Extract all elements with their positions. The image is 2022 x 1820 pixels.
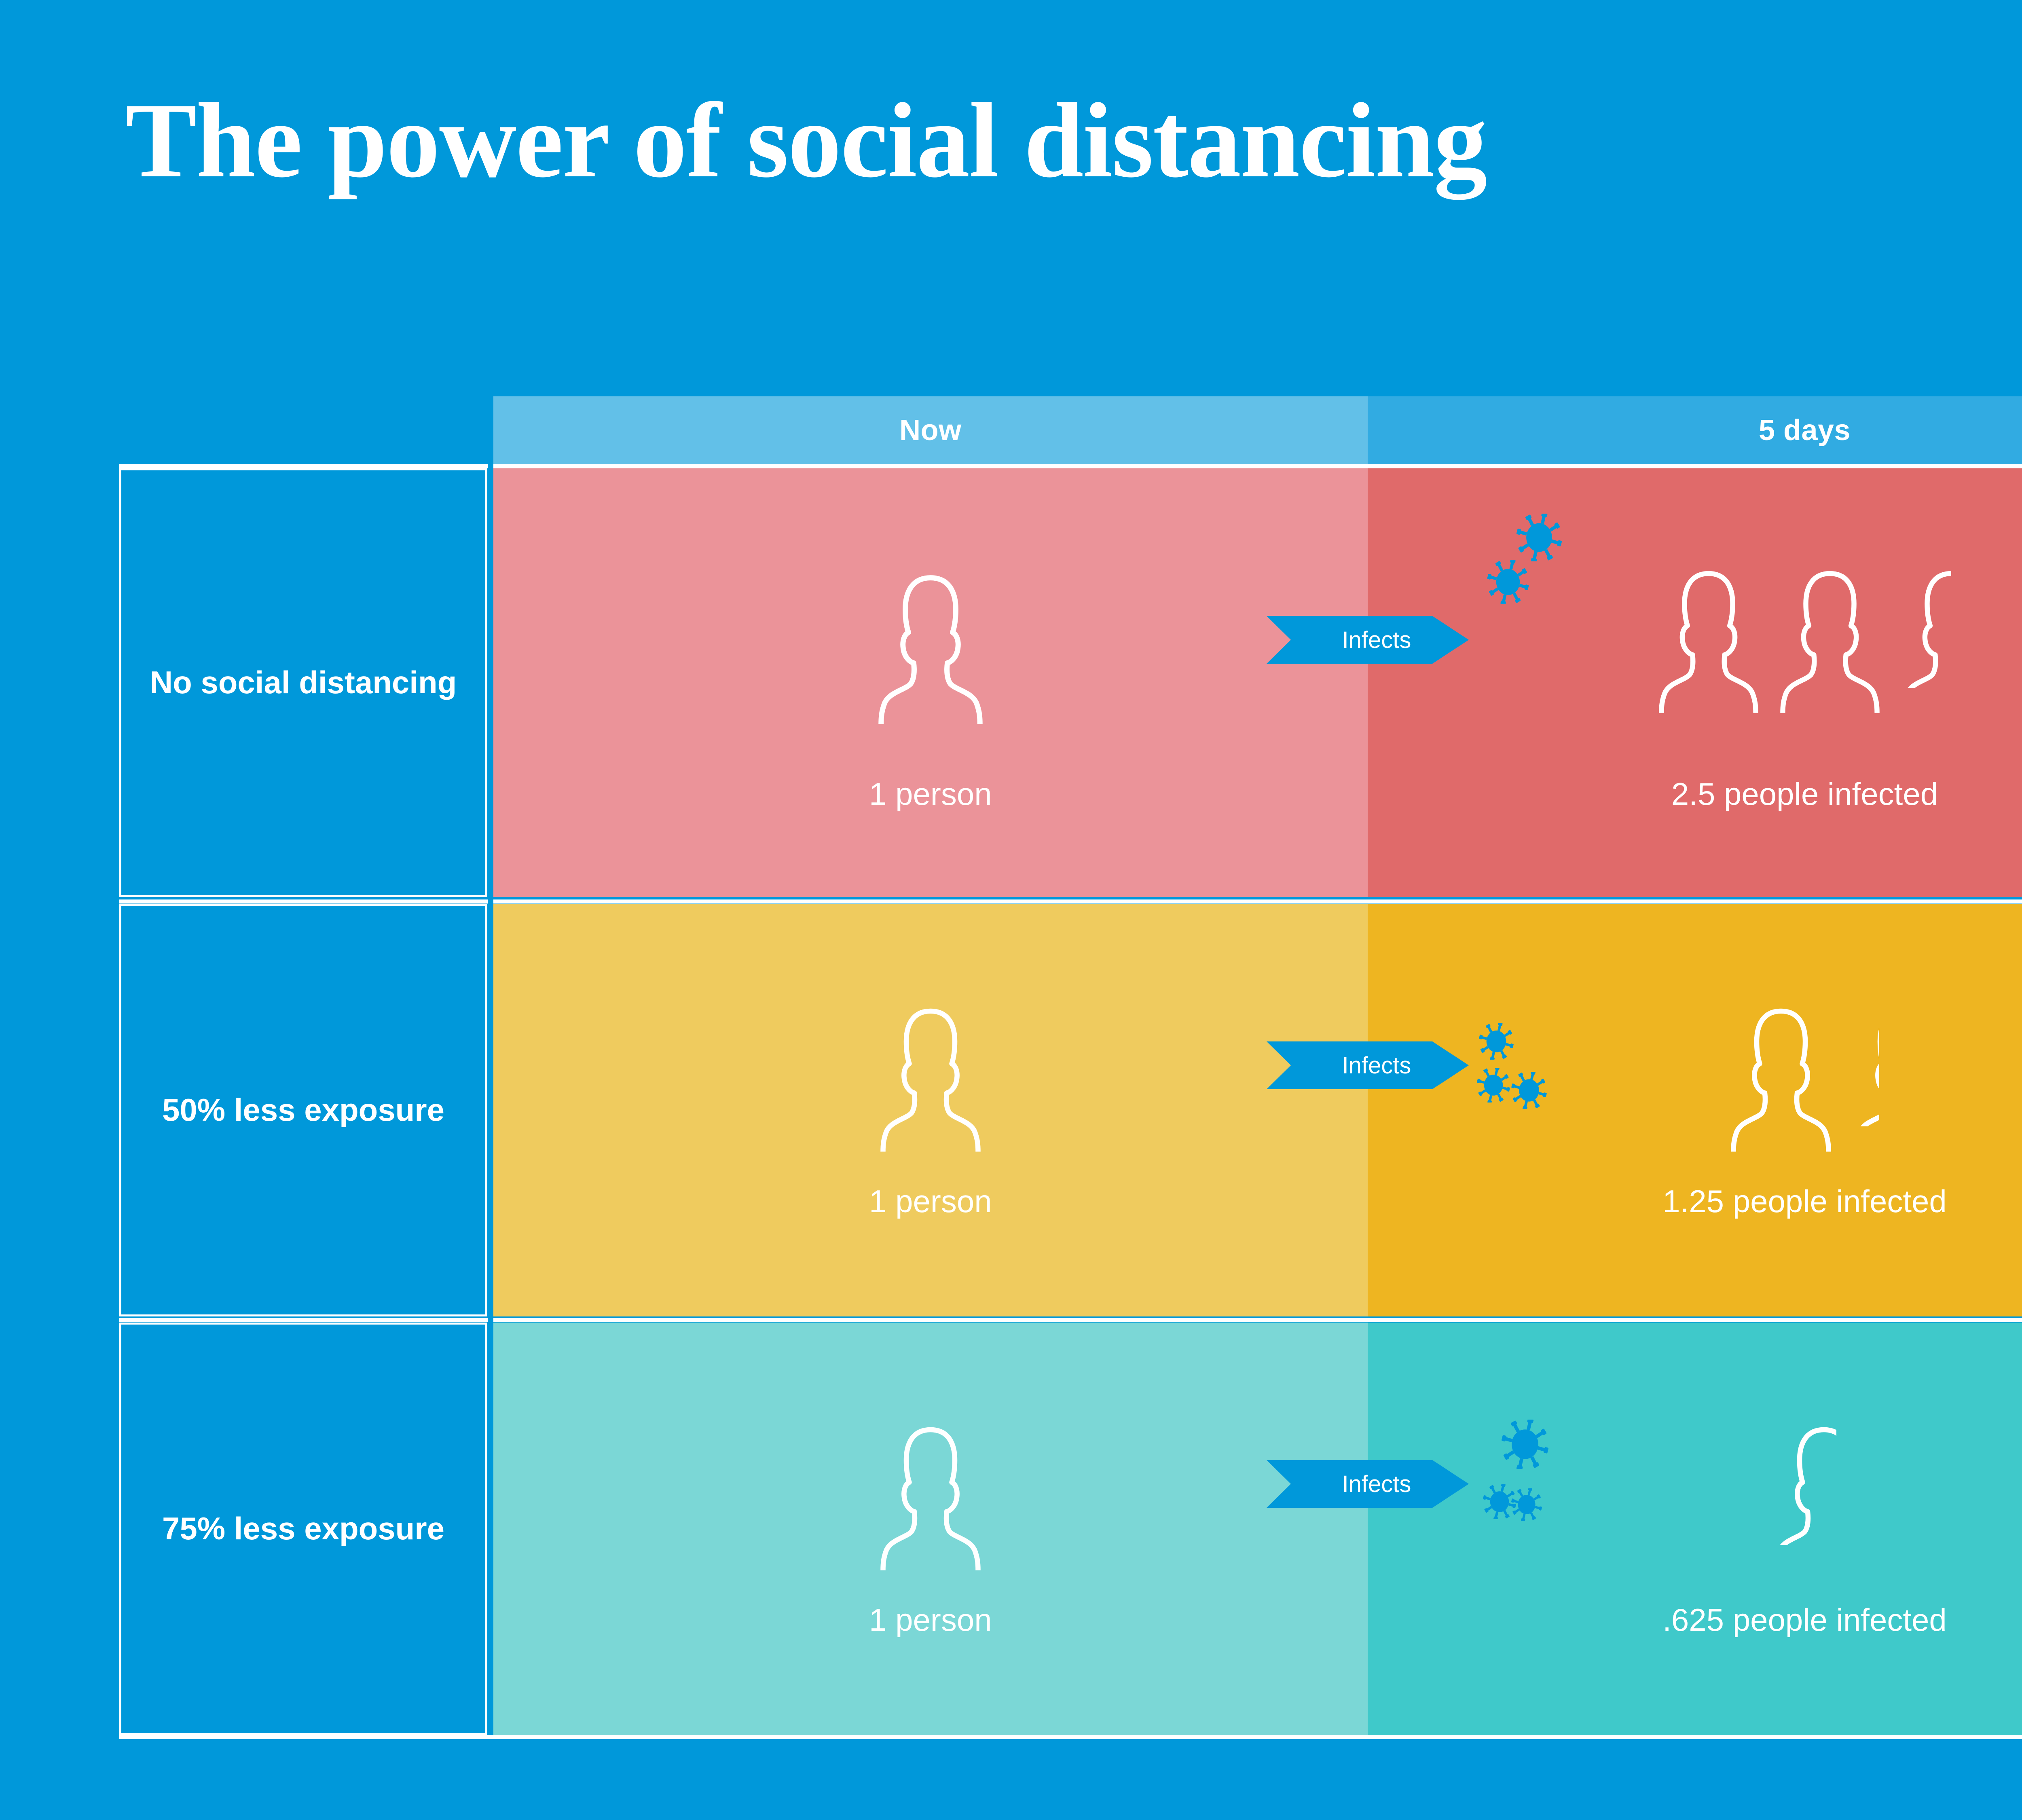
person-bust-icon bbox=[1730, 1005, 1832, 1126]
cell-caption: 2.5 people infected bbox=[1368, 776, 2022, 813]
infects-arrow-row0-col1: Infects bbox=[1267, 616, 1469, 664]
row-label-no-social-distancing: No social distancing bbox=[119, 468, 487, 897]
page-title: The power of social distancing bbox=[125, 87, 1487, 194]
person-bust-icon bbox=[1658, 567, 1759, 688]
row-label-75-less-exposure: 75% less exposure bbox=[119, 1323, 487, 1735]
column-header-5days: 5 days bbox=[1368, 396, 2022, 464]
social-distancing-table: Now 5 days 30 days No social distancing … bbox=[119, 396, 2022, 1711]
virus-icon bbox=[1476, 1068, 1511, 1103]
people-group bbox=[493, 1005, 1368, 1134]
person-bust-icon bbox=[880, 1005, 981, 1126]
row-label-text: 50% less exposure bbox=[162, 1091, 444, 1129]
person-bust-icon bbox=[1780, 567, 1880, 688]
cell-caption: .625 people infected bbox=[1368, 1602, 2022, 1638]
people-group bbox=[1368, 1005, 2022, 1134]
person-partial-icon bbox=[1854, 1005, 1879, 1126]
virus-icon bbox=[1486, 560, 1530, 604]
infects-arrow-label: Infects bbox=[1342, 1471, 1411, 1498]
person-bust-icon bbox=[880, 1424, 981, 1545]
infects-arrow-row2-col1: Infects bbox=[1267, 1460, 1469, 1508]
people-row bbox=[1380, 567, 2022, 688]
cell-row0-now: 1 person bbox=[493, 468, 1368, 897]
people-group bbox=[493, 1424, 1368, 1553]
person-partial-icon bbox=[1901, 567, 1951, 688]
person-bust-icon bbox=[878, 571, 983, 698]
row-label-text: 75% less exposure bbox=[162, 1509, 444, 1548]
table-row-no-social-distancing: 1 person 2.5 people infected 406 people … bbox=[493, 468, 2022, 897]
table-row-75-less-exposure: 1 person .625 people infected 2.5 people… bbox=[493, 1323, 2022, 1735]
people-row bbox=[505, 571, 1356, 698]
table-bottom-divider bbox=[119, 1735, 2022, 1739]
table-row-50-less-exposure: 1 person 1.25 people infected 15 people … bbox=[493, 904, 2022, 1316]
row-label-50-less-exposure: 50% less exposure bbox=[119, 904, 487, 1316]
table-header-row: Now 5 days 30 days bbox=[493, 396, 2022, 464]
people-row bbox=[505, 1005, 1356, 1126]
cell-row2-now: 1 person bbox=[493, 1323, 1368, 1735]
virus-icon bbox=[1515, 514, 1563, 561]
header-divider bbox=[119, 464, 2022, 468]
virus-icon bbox=[1500, 1420, 1550, 1469]
people-group bbox=[493, 571, 1368, 706]
infects-arrow-label: Infects bbox=[1342, 1052, 1411, 1079]
column-header-now: Now bbox=[493, 396, 1368, 464]
people-row bbox=[1380, 1005, 2022, 1126]
cell-caption: 1 person bbox=[493, 1183, 1368, 1220]
column-header-5days-label: 5 days bbox=[1759, 414, 1851, 447]
cell-row2-5days: .625 people infected bbox=[1368, 1323, 2022, 1735]
people-group bbox=[1368, 567, 2022, 696]
infects-arrow-row1-col1: Infects bbox=[1267, 1041, 1469, 1089]
cell-caption: 1 person bbox=[493, 776, 1368, 813]
people-row bbox=[1380, 1424, 2022, 1545]
cell-row1-now: 1 person bbox=[493, 904, 1368, 1316]
virus-icon bbox=[1478, 1023, 1514, 1060]
virus-icon bbox=[1510, 1072, 1548, 1109]
label-column-gap bbox=[488, 396, 493, 1715]
people-row bbox=[505, 1424, 1356, 1545]
cell-caption: 1.25 people infected bbox=[1368, 1183, 2022, 1220]
column-header-now-label: Now bbox=[899, 414, 961, 447]
row-divider bbox=[119, 1318, 2022, 1322]
virus-icon bbox=[1510, 1488, 1543, 1521]
cell-row1-5days: 1.25 people infected bbox=[1368, 904, 2022, 1316]
infects-arrow-label: Infects bbox=[1342, 626, 1411, 654]
row-divider bbox=[119, 899, 2022, 904]
people-group bbox=[1368, 1424, 2022, 1553]
cell-row0-5days: 2.5 people infected bbox=[1368, 468, 2022, 897]
cell-caption: 1 person bbox=[493, 1602, 1368, 1638]
row-label-text: No social distancing bbox=[150, 663, 457, 702]
person-partial-icon bbox=[1773, 1424, 1836, 1545]
